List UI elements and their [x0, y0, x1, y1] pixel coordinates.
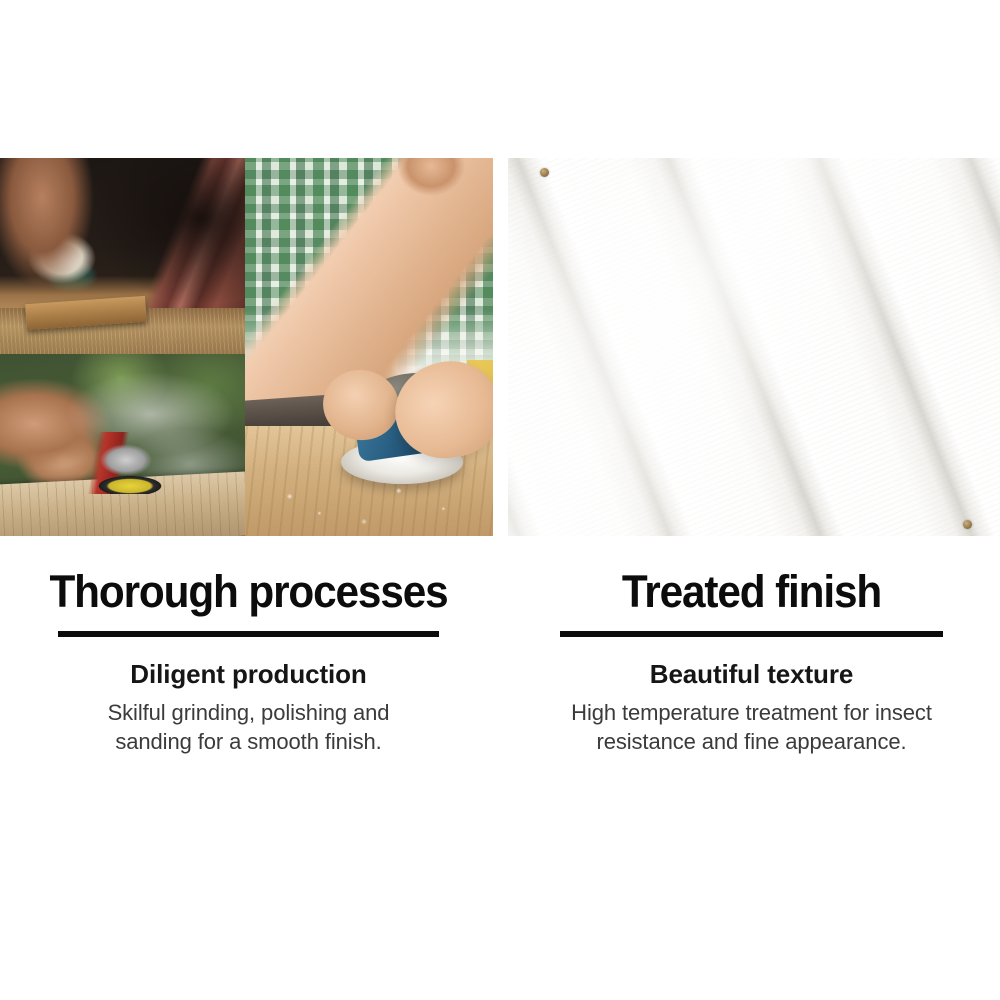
treated-finish-image	[508, 158, 1000, 536]
white-painted-slats-photo	[508, 158, 1000, 536]
blue-random-orbit-sander-photo	[245, 158, 493, 536]
infographic-canvas: Thorough processes Diligent production S…	[0, 0, 1000, 1000]
orbital-sander-workshop-photo	[0, 158, 245, 354]
feature-subheading: Diligent production	[0, 658, 497, 690]
feature-body-line-1: Skilful grinding, polishing and	[69, 698, 429, 727]
thorough-processes-image-collage	[0, 158, 493, 536]
feature-heading: Thorough processes	[15, 566, 482, 618]
light-sheen-layer	[508, 158, 1000, 536]
feature-body-line-1: High temperature treatment for insect	[537, 698, 967, 727]
screw-icon	[963, 520, 972, 529]
collage-grid	[0, 158, 493, 536]
thorough-processes-text-block: Thorough processes Diligent production S…	[0, 566, 497, 756]
feature-heading: Treated finish	[518, 566, 985, 618]
feature-subheading: Beautiful texture	[503, 658, 1000, 690]
feature-body-line-2: resistance and fine appearance.	[537, 727, 967, 756]
heading-divider-rule	[58, 631, 439, 637]
feature-body-line-2: sanding for a smooth finish.	[69, 727, 429, 756]
sawdust-specks	[245, 474, 493, 530]
treated-finish-text-block: Treated finish Beautiful texture High te…	[503, 566, 1000, 756]
heading-divider-rule	[560, 631, 943, 637]
screw-icon	[540, 168, 549, 177]
angle-grinder-outdoor-photo	[0, 354, 245, 536]
